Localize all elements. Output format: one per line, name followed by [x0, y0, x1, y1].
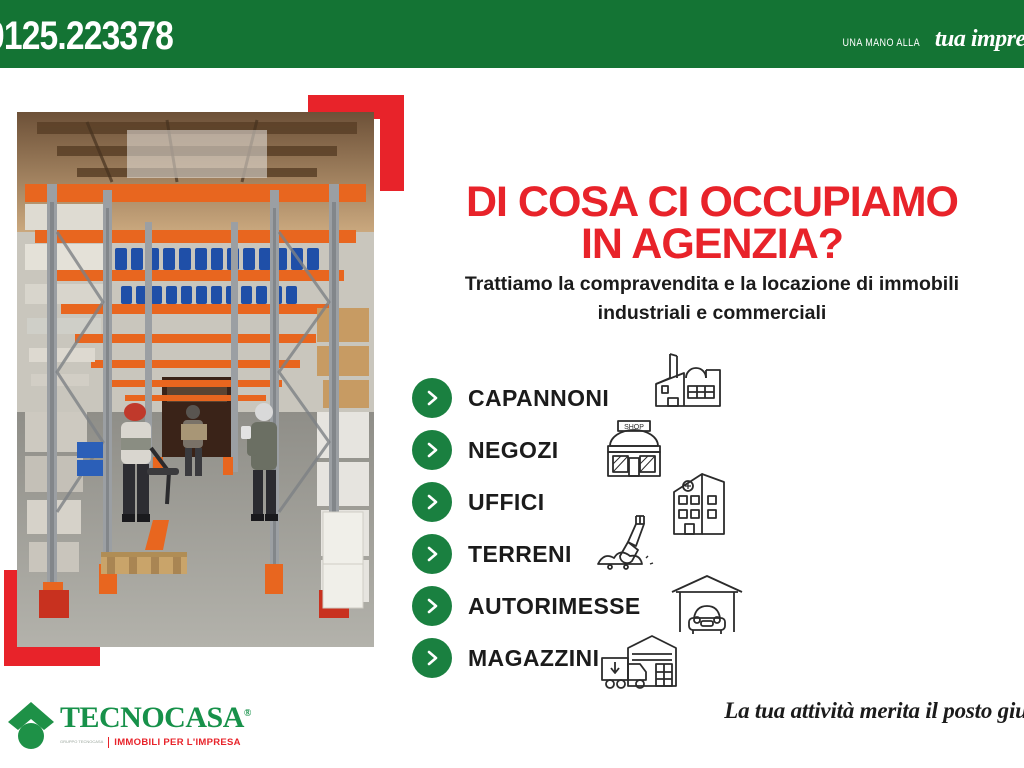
logo-name: TECNOCASA®	[60, 703, 251, 733]
footer-script-tagline: La tua attività merita il posto giusto	[724, 698, 1024, 724]
warehouse-truck-icon	[598, 632, 680, 694]
headline-line-1: DI COSA CI OCCUPIAMO	[466, 178, 958, 226]
header-tagline-small: UNA MANO ALLA	[843, 37, 921, 49]
list-item-capannoni[interactable]: CAPANNONI	[412, 372, 672, 424]
chevron-right-icon	[412, 378, 452, 418]
registered-mark: ®	[244, 708, 251, 719]
list-item-label: MAGAZZINI	[468, 645, 599, 672]
garage-car-icon	[668, 572, 746, 638]
chevron-right-icon	[412, 638, 452, 678]
chevron-right-icon	[412, 482, 452, 522]
header-tagline: UNA MANO ALLA tua impresa	[834, 26, 1024, 53]
headline-line-2: IN AGENZIA?	[400, 224, 1024, 266]
shop-icon: SHOP	[598, 418, 670, 480]
chevron-right-icon	[412, 534, 452, 574]
page-title: DI COSA CI OCCUPIAMO IN AGENZIA?	[400, 182, 1024, 265]
shovel-dirt-icon	[592, 512, 658, 578]
logo-sub-label: IMMOBILI PER L'IMPRESA	[108, 737, 241, 748]
tecnocasa-house-icon	[8, 700, 54, 750]
bracket-vertical-bar	[380, 95, 404, 191]
list-item-label: UFFICI	[468, 489, 545, 516]
chevron-right-icon	[412, 430, 452, 470]
list-item-label: TERRENI	[468, 541, 572, 568]
list-item-label: NEGOZI	[468, 437, 559, 464]
tecnocasa-logo[interactable]: TECNOCASA® GRUPPO TECNOCASA IMMOBILI PER…	[8, 700, 251, 750]
list-item-label: CAPANNONI	[468, 385, 609, 412]
factory-icon	[650, 348, 726, 412]
logo-subline: GRUPPO TECNOCASA IMMOBILI PER L'IMPRESA	[60, 737, 251, 748]
list-item-label: AUTORIMESSE	[468, 593, 641, 620]
warehouse-photo	[17, 112, 374, 647]
page-header: 0125.223378 UNA MANO ALLA tua impresa	[0, 0, 1024, 68]
subtitle: Trattiamo la compravendita e la locazion…	[400, 270, 1024, 328]
chevron-right-icon	[412, 586, 452, 626]
subtitle-line-2: industriali e commerciali	[400, 299, 1024, 328]
header-phone-number: 0125.223378	[0, 14, 173, 59]
tecnocasa-wordmark: TECNOCASA® GRUPPO TECNOCASA IMMOBILI PER…	[60, 703, 251, 748]
header-tagline-script: tua impresa	[935, 26, 1024, 53]
list-item-autorimesse[interactable]: AUTORIMESSE	[412, 580, 672, 632]
office-building-icon	[664, 468, 734, 540]
subtitle-line-1: Trattiamo la compravendita e la locazion…	[400, 270, 1024, 299]
gruppo-tecnocasa-mini-mark: GRUPPO TECNOCASA	[60, 740, 103, 744]
